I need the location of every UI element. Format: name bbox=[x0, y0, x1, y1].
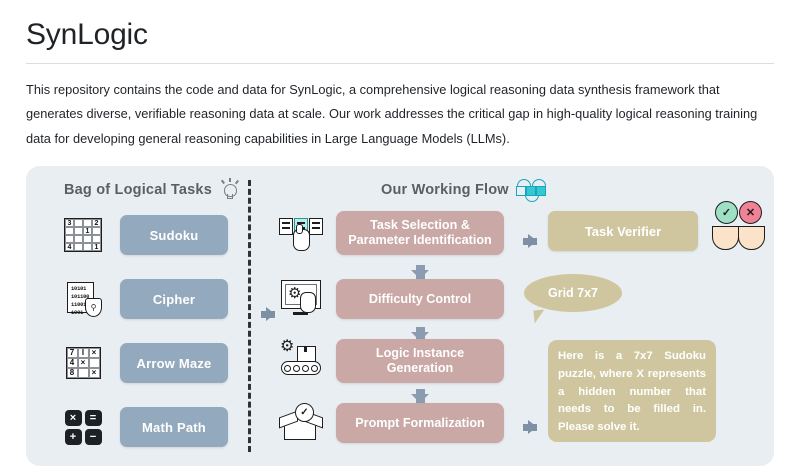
flow-arrow-1 bbox=[411, 270, 429, 279]
arrow-maze-minigrid: 7I× 4× 8× bbox=[66, 347, 101, 379]
task-card-cipher[interactable]: Cipher bbox=[120, 279, 228, 319]
to-prompt-bubble-arrow bbox=[528, 420, 537, 434]
flow-step-difficulty-control[interactable]: Difficulty Control bbox=[336, 279, 504, 319]
repo-description: This repository contains the code and da… bbox=[26, 78, 774, 153]
task-card-arrow-maze[interactable]: Arrow Maze bbox=[120, 343, 228, 383]
grid-size-bubble: Grid 7x7 bbox=[524, 274, 622, 312]
section-divider bbox=[248, 180, 251, 452]
task-row-arrow-maze[interactable]: 7I× 4× 8× Arrow Maze bbox=[60, 342, 228, 384]
sudoku-grid-icon: 32 1 41 bbox=[60, 214, 106, 256]
task-row-sudoku[interactable]: 32 1 41 Sudoku bbox=[60, 214, 228, 256]
math-operators-icon: × = + − bbox=[60, 406, 106, 448]
page-title: SynLogic bbox=[26, 18, 774, 53]
sudoku-minigrid: 32 1 41 bbox=[64, 218, 102, 252]
cross-circle-icon: ✕ bbox=[739, 201, 762, 224]
workflow-network-icon bbox=[516, 178, 546, 202]
open-box-check-icon: ✓ bbox=[278, 401, 324, 443]
document-select-hand-icon bbox=[278, 214, 324, 256]
title-divider bbox=[26, 63, 774, 64]
to-verifier-arrow bbox=[528, 234, 537, 248]
flow-step-task-selection[interactable]: Task Selection & Parameter Identificatio… bbox=[336, 211, 504, 255]
working-flow-label: Our Working Flow bbox=[381, 182, 509, 198]
task-card-sudoku[interactable]: Sudoku bbox=[120, 215, 228, 255]
flow-step-logic-instance-generation[interactable]: Logic Instance Generation bbox=[336, 339, 504, 383]
gear-conveyor-belt-icon: ⚙ bbox=[278, 338, 324, 380]
flow-step-prompt-formalization[interactable]: Prompt Formalization bbox=[336, 403, 504, 443]
hands-check-cross-icon: ✓ ✕ bbox=[712, 201, 770, 253]
task-row-math-path[interactable]: × = + − Math Path bbox=[60, 406, 228, 448]
bag-to-flow-arrow bbox=[266, 307, 275, 321]
task-verifier-box[interactable]: Task Verifier bbox=[548, 211, 698, 251]
lightbulb-icon bbox=[219, 178, 240, 202]
working-flow-heading: Our Working Flow bbox=[381, 178, 546, 202]
screen-gear-hand-icon: ⚙ bbox=[278, 276, 324, 318]
task-row-cipher[interactable]: 10101 101100 11001 1001 ⚲ Cipher bbox=[60, 278, 228, 320]
prompt-output-bubble: Here is a 7x7 Sudoku puzzle, where X rep… bbox=[548, 340, 716, 442]
bag-of-tasks-label: Bag of Logical Tasks bbox=[64, 182, 212, 198]
readme-page: SynLogic This repository contains the co… bbox=[0, 0, 800, 466]
bag-of-tasks-heading: Bag of Logical Tasks bbox=[64, 178, 240, 202]
shield-key-icon: ⚲ bbox=[85, 298, 102, 317]
architecture-figure: Bag of Logical Tasks Our Working Flow 32… bbox=[26, 166, 774, 466]
arrow-maze-grid-icon: 7I× 4× 8× bbox=[60, 342, 106, 384]
flow-arrow-3 bbox=[411, 394, 429, 403]
cipher-document-icon: 10101 101100 11001 1001 ⚲ bbox=[60, 278, 106, 320]
task-card-math-path[interactable]: Math Path bbox=[120, 407, 228, 447]
check-circle-icon: ✓ bbox=[715, 201, 738, 224]
